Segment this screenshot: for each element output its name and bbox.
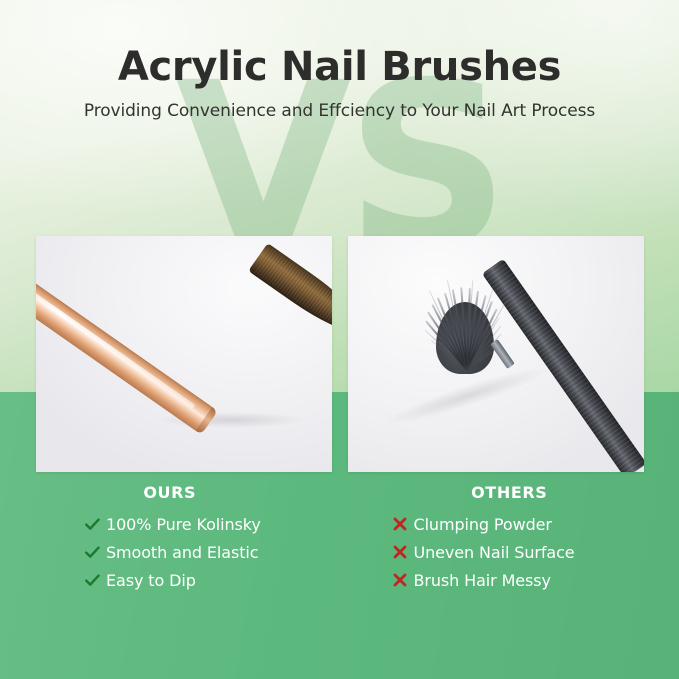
list-item: 100% Pure Kolinsky [84,510,340,538]
check-icon [84,544,106,561]
product-comparison-poster: VS Acrylic Nail Brushes Providing Conven… [0,0,679,679]
poster-header: Acrylic Nail Brushes Providing Convenien… [0,46,679,122]
list-item: Uneven Nail Surface [392,538,679,566]
page-subtitle: Providing Convenience and Effciency to Y… [0,101,679,121]
cross-icon [392,516,414,532]
feature-label: Uneven Nail Surface [414,543,575,562]
feature-label: Clumping Powder [414,515,552,534]
feature-label: Brush Hair Messy [414,571,551,590]
column-heading-ours: OURS [0,483,340,502]
page-title: Acrylic Nail Brushes [0,46,679,88]
photo-others [348,236,644,472]
photo-others-inner [348,236,644,472]
list-item: Easy to Dip [84,566,340,594]
comparison-columns: OURS 100% Pure Kolinsky [0,483,679,594]
check-icon [84,572,106,589]
feature-list-others: Clumping Powder Uneven Nail Surface [340,510,679,594]
feature-label: 100% Pure Kolinsky [106,515,261,534]
list-item: Brush Hair Messy [392,566,679,594]
feature-list-ours: 100% Pure Kolinsky Smooth and Elastic [0,510,340,594]
photo-ours [36,236,332,472]
list-item: Clumping Powder [392,510,679,538]
check-icon [84,516,106,533]
column-ours: OURS 100% Pure Kolinsky [0,483,340,594]
cross-icon [392,572,414,588]
column-heading-others: OTHERS [340,483,679,502]
list-item: Smooth and Elastic [84,538,340,566]
feature-label: Easy to Dip [106,571,196,590]
photo-ours-inner [36,236,332,472]
cross-icon [392,544,414,560]
feature-label: Smooth and Elastic [106,543,258,562]
column-others: OTHERS Clumping Powder [340,483,679,594]
